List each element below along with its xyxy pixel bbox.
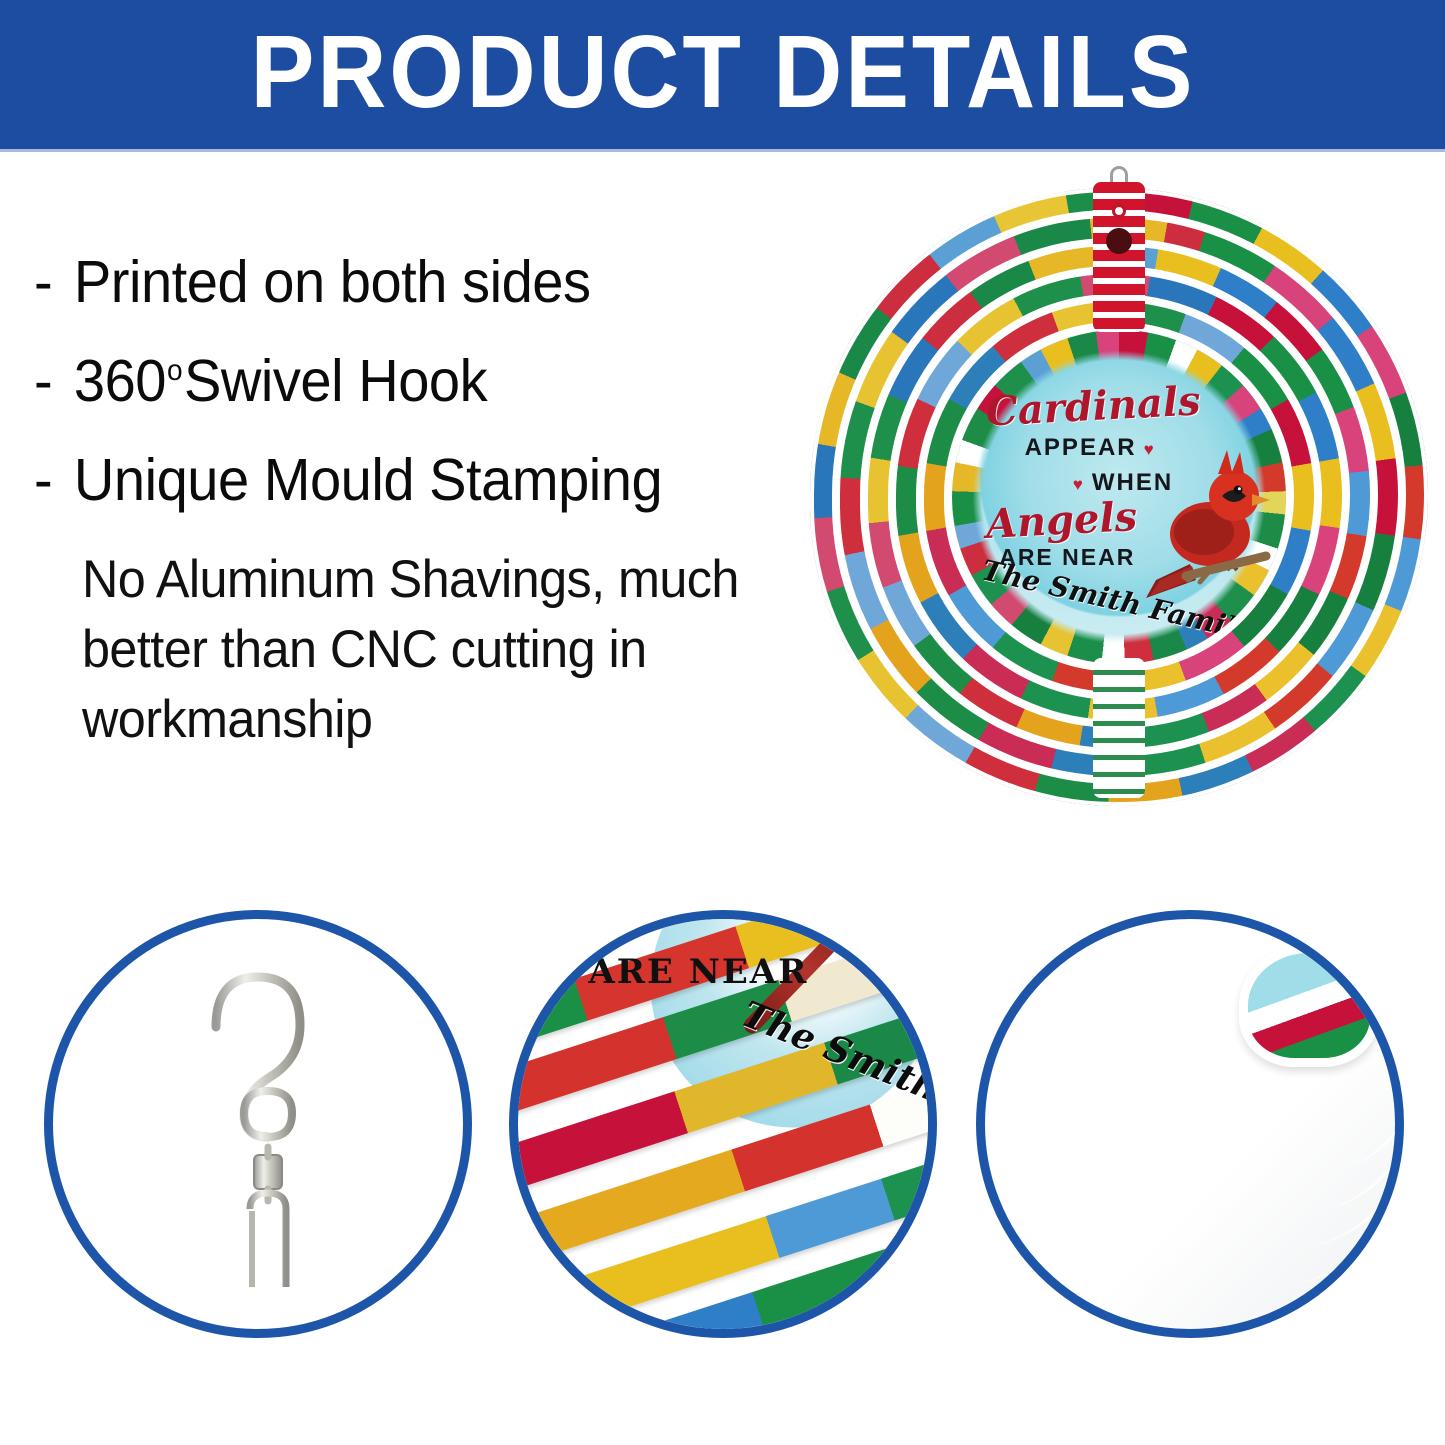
blade-text-are-near: ARE NEAR xyxy=(588,952,808,992)
hanging-hole xyxy=(1112,204,1126,218)
feature-item-printed: - Printed on both sides xyxy=(34,248,785,316)
degree-symbol: o xyxy=(167,354,182,387)
page-title: PRODUCT DETAILS xyxy=(250,20,1195,129)
s-hook-swivel-illustration xyxy=(180,959,336,1289)
disc-artwork: Cardinals APPEAR♥ ♥WHEN Angels ARE NEAR … xyxy=(952,330,1286,664)
spinner-top-spine xyxy=(1093,182,1145,332)
disc-line-appear: APPEAR♥ xyxy=(1025,434,1156,462)
feature-label-swivel-hook: 360oSwivel Hook xyxy=(74,347,487,415)
swivel-hook-label: Swivel Hook xyxy=(184,348,487,414)
feature-label-printed: Printed on both sides xyxy=(74,248,591,316)
feature-note: No Aluminum Shavings, much better than C… xyxy=(82,545,766,755)
detail-circle-stamped-edge xyxy=(976,910,1404,1338)
spinner-center-disc: Cardinals APPEAR♥ ♥WHEN Angels ARE NEAR … xyxy=(952,330,1286,664)
heart-icon: ♥ xyxy=(1073,475,1085,494)
degree-value: 360 xyxy=(74,348,166,414)
disc-line-when: ♥WHEN xyxy=(1073,469,1173,497)
spinner-bottom-spine xyxy=(1093,658,1145,798)
bullet-dash: - xyxy=(34,248,74,316)
heart-icon: ♥ xyxy=(1144,440,1156,459)
disc-headline-angels: Angels xyxy=(985,493,1139,548)
feature-item-swivel-hook: - 360oSwivel Hook xyxy=(34,347,785,415)
spiral-blade-top xyxy=(1239,944,1378,1067)
header-bar: PRODUCT DETAILS xyxy=(0,0,1445,149)
when-label: WHEN xyxy=(1092,469,1173,496)
feature-list: - Printed on both sides - 360oSwivel Hoo… xyxy=(34,248,824,755)
wind-spinner-product-image: Cardinals APPEAR♥ ♥WHEN Angels ARE NEAR … xyxy=(806,166,1432,814)
bullet-dash: - xyxy=(34,347,74,415)
detail-circle-blade-print: ARE NEAR The Smith Family xyxy=(509,910,937,1338)
appear-label: APPEAR xyxy=(1025,434,1137,461)
bullet-dash: - xyxy=(34,446,74,514)
detail-circle-swivel-hook xyxy=(44,910,472,1338)
disc-headline-cardinals: Cardinals xyxy=(985,378,1202,436)
feature-label-mould-stamping: Unique Mould Stamping xyxy=(74,446,662,514)
feature-item-mould-stamping: - Unique Mould Stamping xyxy=(34,446,785,514)
